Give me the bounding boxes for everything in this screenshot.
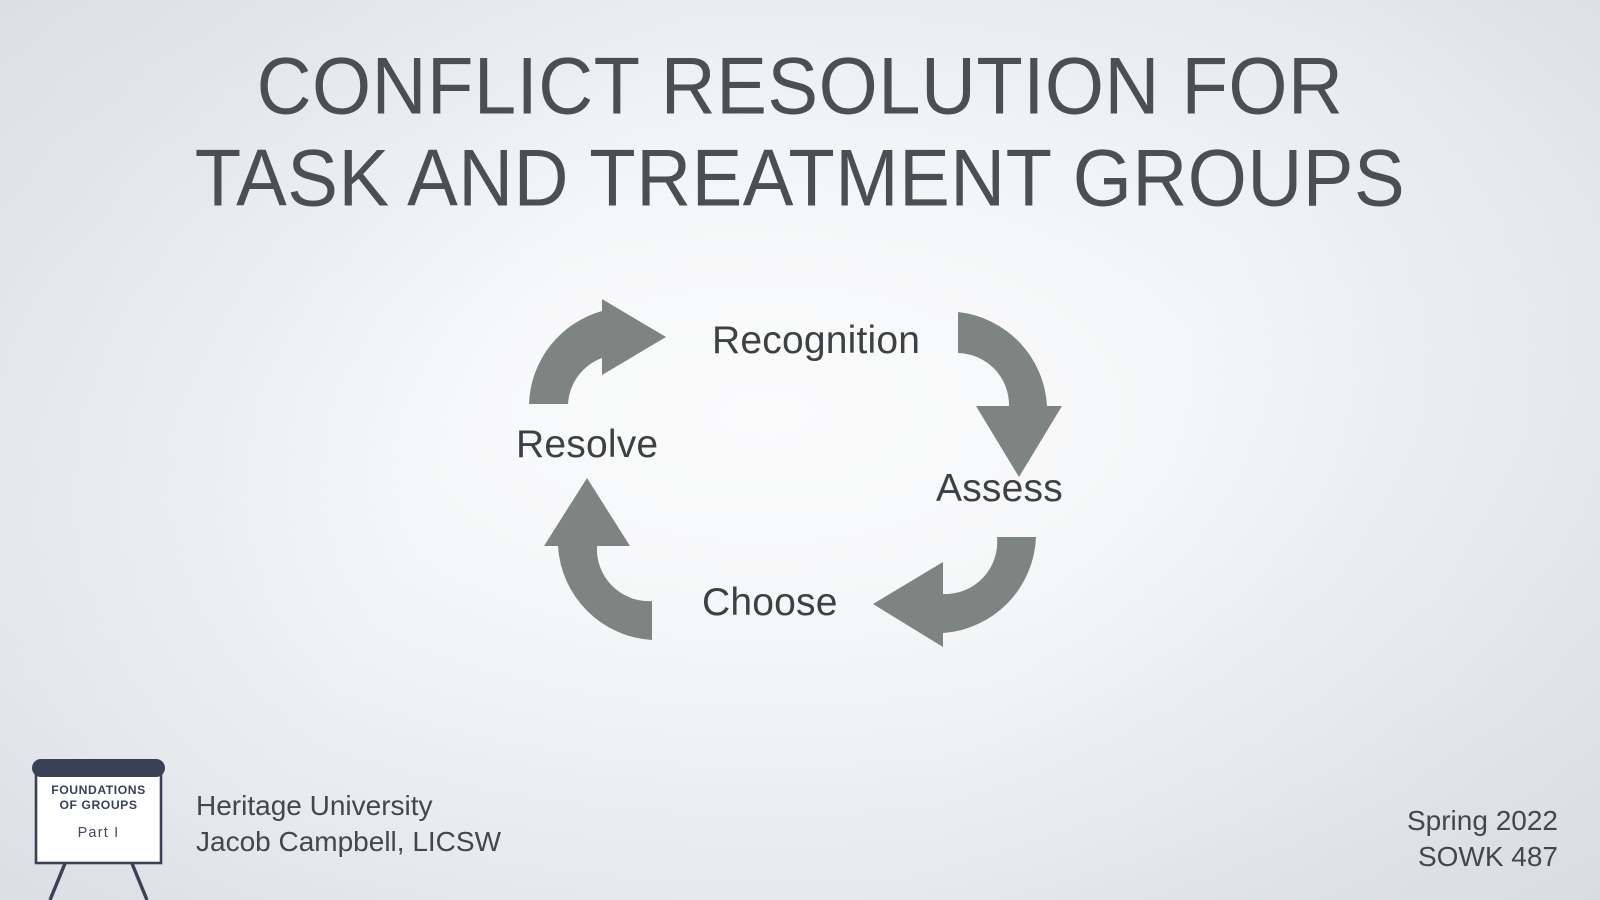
title-line-2: TASK AND TREATMENT GROUPS xyxy=(0,130,1600,228)
conflict-resolution-cycle-diagram: Recognition Assess Choose Resolve xyxy=(506,292,1086,662)
cycle-label-choose: Choose xyxy=(702,581,838,625)
logo-text-block: FOUNDATIONS OF GROUPS Part I xyxy=(30,783,167,841)
footer-institution: Heritage University xyxy=(196,788,501,824)
footer-left: Heritage University Jacob Campbell, LICS… xyxy=(196,788,501,860)
arrow-to-recognition-icon xyxy=(529,299,666,404)
cycle-label-assess: Assess xyxy=(936,467,1063,511)
footer-course-code: SOWK 487 xyxy=(1407,839,1558,875)
footer-presenter: Jacob Campbell, LICSW xyxy=(196,824,501,860)
footer-right: Spring 2022 SOWK 487 xyxy=(1407,803,1558,875)
presentation-slide: CONFLICT RESOLUTION FOR TASK AND TREATME… xyxy=(0,0,1600,900)
logo-part-label: Part I xyxy=(30,825,167,841)
cycle-label-recognition: Recognition xyxy=(712,319,920,363)
arrow-to-resolve-icon xyxy=(544,478,652,640)
arrow-to-choose-icon xyxy=(873,537,1036,647)
footer-term: Spring 2022 xyxy=(1407,803,1558,839)
course-logo: FOUNDATIONS OF GROUPS Part I xyxy=(30,757,170,900)
logo-title-line-2: OF GROUPS xyxy=(30,798,167,813)
cycle-label-resolve: Resolve xyxy=(516,423,658,467)
logo-title-line-1: FOUNDATIONS xyxy=(30,783,167,798)
title-line-1: CONFLICT RESOLUTION FOR xyxy=(0,38,1600,136)
page-title: CONFLICT RESOLUTION FOR TASK AND TREATME… xyxy=(0,38,1600,222)
arrow-to-assess-icon xyxy=(958,312,1062,477)
